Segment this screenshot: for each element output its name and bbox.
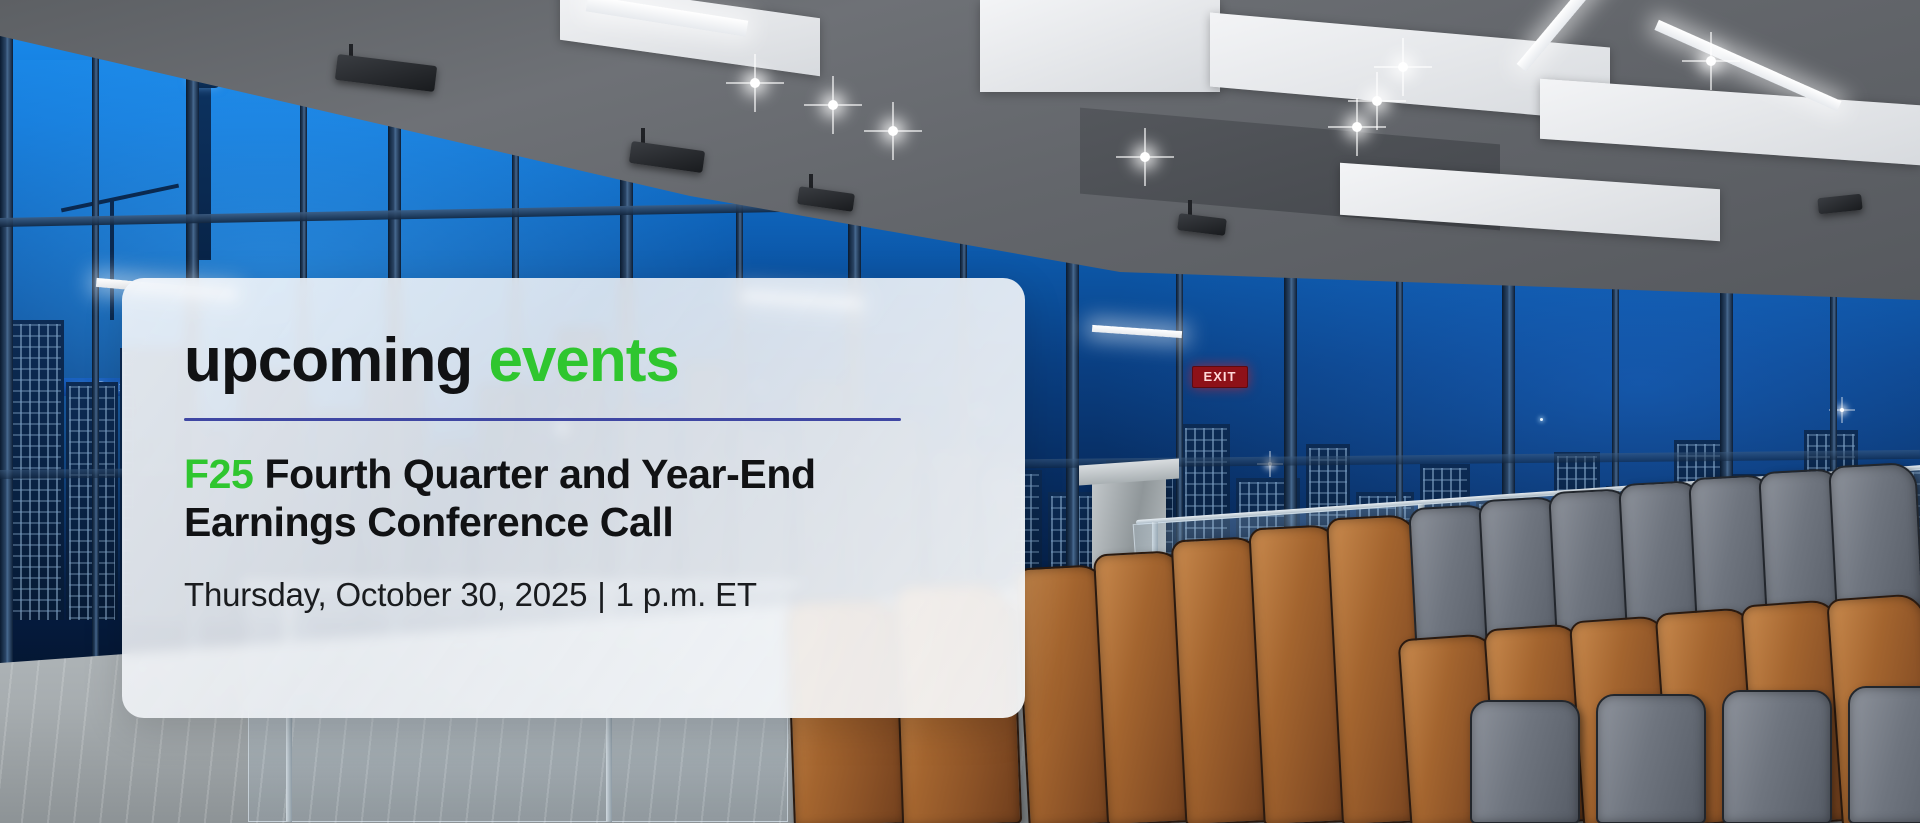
title-word-events: events <box>488 326 678 395</box>
event-name: Fourth Quarter and Year-End Earnings Con… <box>184 451 816 545</box>
page-title: upcoming events <box>184 330 965 392</box>
event-date: Thursday, October 30, 2025 <box>184 576 587 613</box>
event-time: 1 p.m. ET <box>616 576 757 613</box>
upcoming-events-banner: nto Star <box>0 0 1920 823</box>
event-info-card: upcoming events F25 Fourth Quarter and Y… <box>122 278 1025 718</box>
event-subtitle: F25 Fourth Quarter and Year-End Earnings… <box>184 451 914 546</box>
datetime-separator: | <box>587 576 615 613</box>
event-datetime: Thursday, October 30, 2025|1 p.m. ET <box>184 576 965 614</box>
fiscal-year-badge: F25 <box>184 451 253 497</box>
title-word-upcoming: upcoming <box>184 326 472 395</box>
title-divider <box>184 418 901 421</box>
